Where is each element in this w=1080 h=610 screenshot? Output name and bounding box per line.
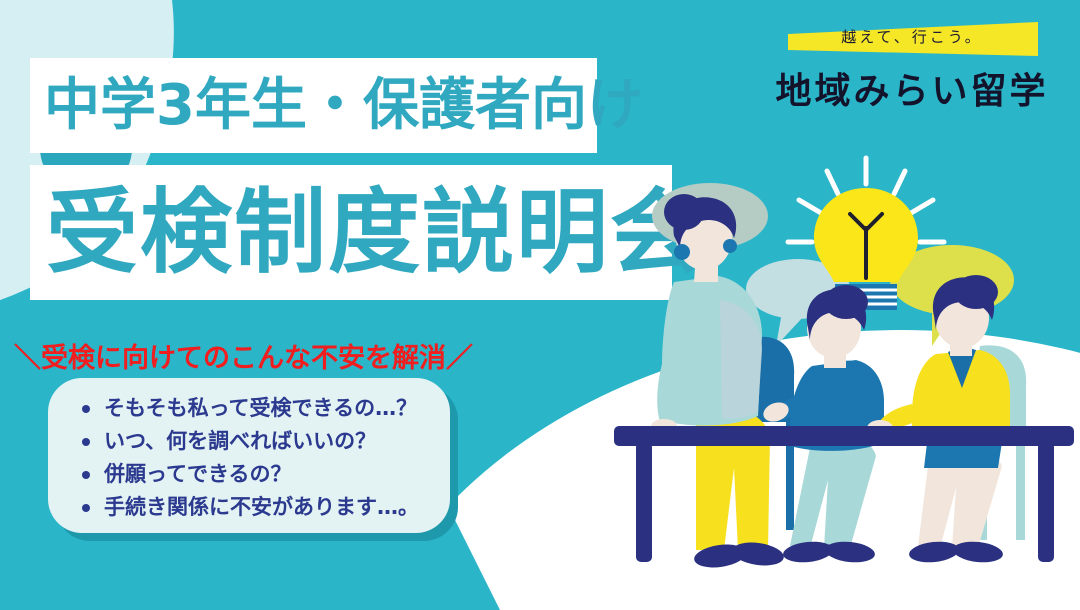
bullet-dot-icon — [82, 405, 90, 413]
list-item: 手続き関係に不安があります…。 — [70, 491, 440, 524]
brand-logo[interactable]: 越えて、行こう。 地域みらい留学 — [766, 18, 1058, 126]
main-title-box: 受検制度説明会 — [30, 165, 672, 300]
bullet-dot-icon — [82, 471, 90, 479]
bullet-dot-icon — [82, 438, 90, 446]
bullet-label: 手続き関係に不安があります…。 — [104, 497, 419, 518]
poster-canvas: 越えて、行こう。 地域みらい留学 中学3年生・保護者向け 受検制度説明会 ＼受検… — [0, 0, 1080, 610]
bullet-label: そもそも私って受検できるの…？ — [104, 398, 417, 419]
list-item: そもそも私って受検できるの…？ — [70, 392, 440, 425]
bullet-label: いつ、何を調べればいいの？ — [104, 431, 376, 452]
bullet-label: 併願ってできるの？ — [104, 464, 292, 485]
list-item: 併願ってできるの？ — [70, 458, 440, 491]
person-right — [867, 275, 1010, 565]
logo-tagline: 越えて、行こう。 — [766, 26, 1058, 47]
kicker-title: 中学3年生・保護者向け — [44, 78, 643, 134]
list-item: いつ、何を調べればいいの？ — [70, 425, 440, 458]
bullet-card: そもそも私って受検できるの…？ いつ、何を調べればいいの？ 併願ってできるの？ … — [48, 378, 450, 533]
person-middle — [761, 285, 884, 565]
bullet-dot-icon — [82, 504, 90, 512]
illustration-meeting-scene — [600, 150, 1080, 610]
logo-name: 地域みらい留学 — [766, 62, 1058, 114]
pain-points-headline: ＼受検に向けてのこんな不安を解消／ — [14, 336, 473, 375]
kicker-title-box: 中学3年生・保護者向け — [30, 58, 597, 153]
